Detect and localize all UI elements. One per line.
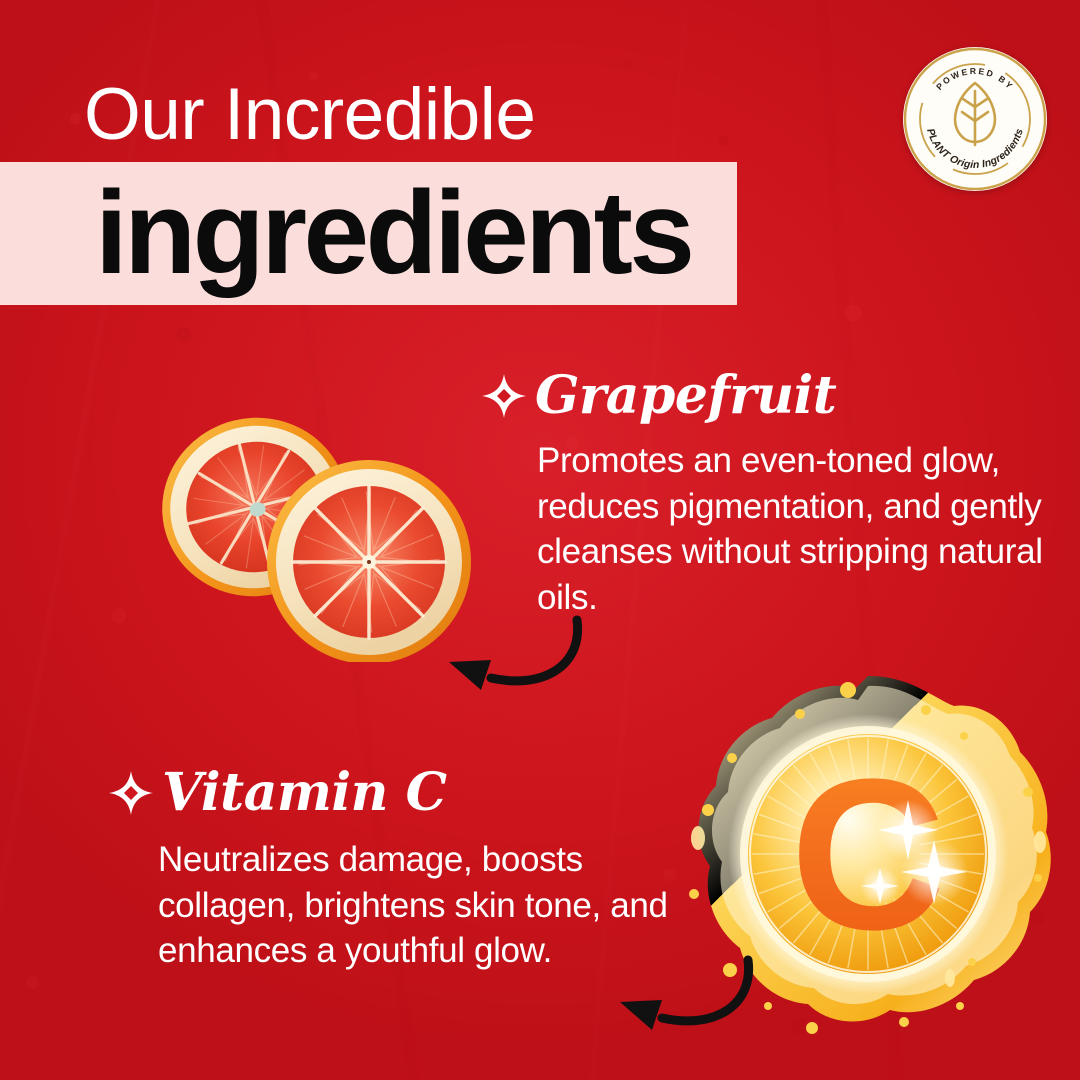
- badge-top-text: POWERED BY: [934, 66, 1016, 92]
- section-title-grapefruit: Grapefruit: [481, 365, 1055, 426]
- leaf-icon: [955, 83, 995, 145]
- page-title-line2: ingredients: [95, 164, 691, 303]
- section-title-text-vitaminc: Vitamin C: [162, 762, 446, 823]
- section-vitaminc: Vitamin C Neutralizes damage, boosts col…: [108, 762, 668, 974]
- section-title-text-grapefruit: Grapefruit: [535, 365, 836, 426]
- poster-canvas: Our Incredible ingredients POWERE: [0, 0, 1080, 1080]
- section-grapefruit: Grapefruit Promotes an even-toned glow, …: [485, 365, 1055, 620]
- plant-origin-badge: POWERED BY PLANT Origin Ingredients: [903, 47, 1047, 191]
- page-title-line1: Our Incredible: [84, 78, 536, 151]
- section-title-vitaminc: Vitamin C: [108, 762, 668, 823]
- badge-graphic: POWERED BY PLANT Origin Ingredients: [903, 47, 1047, 191]
- sparkle-icon: [481, 373, 527, 419]
- section-body-grapefruit: Promotes an even-toned glow, reduces pig…: [537, 438, 1055, 620]
- section-body-vitaminc: Neutralizes damage, boosts collagen, bri…: [158, 837, 668, 974]
- sparkle-icon: [108, 770, 154, 816]
